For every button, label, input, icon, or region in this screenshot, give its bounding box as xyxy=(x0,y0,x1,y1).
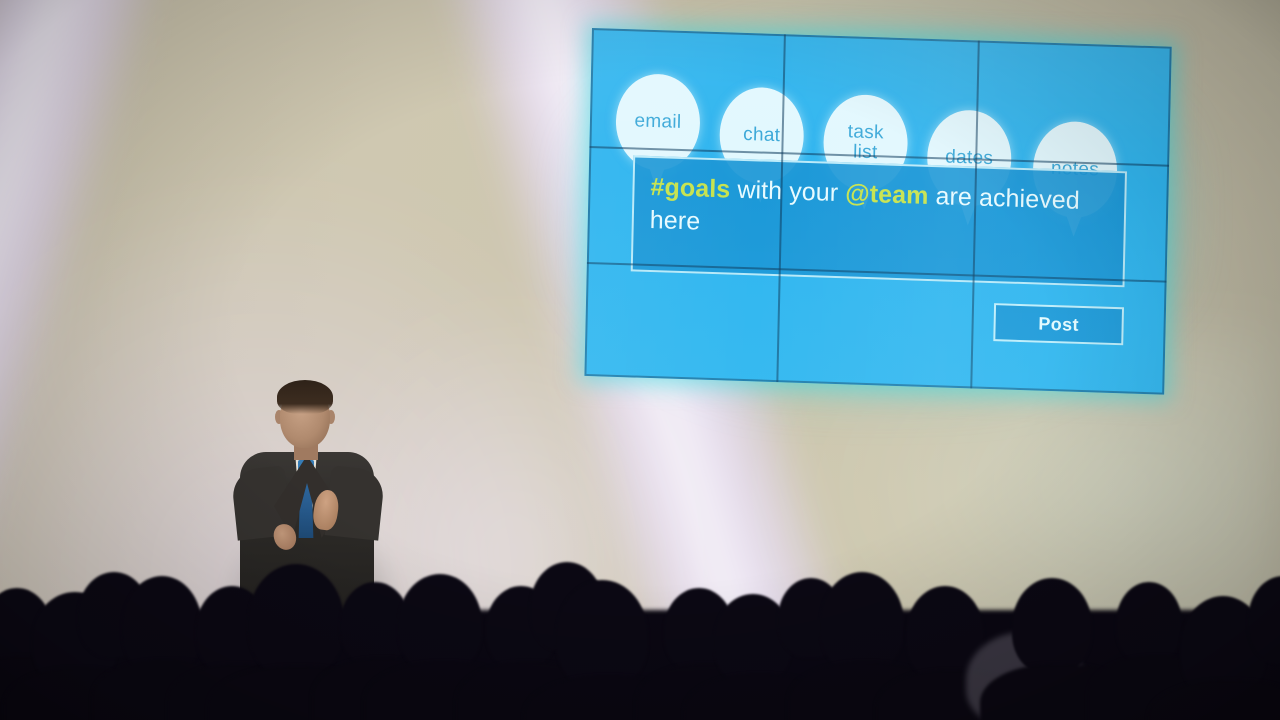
audience-head xyxy=(1012,578,1092,674)
bubble-email-label: email xyxy=(632,111,683,133)
audience-head xyxy=(820,572,904,674)
composer-text: #goals with your @team are achieved here xyxy=(649,171,1114,252)
composer-textbox[interactable]: #goals with your @team are achieved here xyxy=(631,155,1127,287)
bubble-task-list-label: task list xyxy=(845,122,886,163)
audience-head xyxy=(556,580,648,690)
audience-silhouettes xyxy=(0,530,1280,720)
bubble-chat-label: chat xyxy=(741,125,783,146)
post-button[interactable]: Post xyxy=(993,303,1124,345)
stage-scene: email chat task list dates notes #goal xyxy=(0,0,1280,720)
audience-head xyxy=(248,564,344,678)
videowall-display[interactable]: email chat task list dates notes #goal xyxy=(584,28,1171,395)
post-button-label: Post xyxy=(1038,313,1079,335)
hashtag-goals: #goals xyxy=(650,173,730,204)
mention-team: @team xyxy=(845,179,929,210)
speaker-hair xyxy=(277,380,333,414)
audience-head xyxy=(1116,582,1182,664)
presentation-slide: email chat task list dates notes #goal xyxy=(584,28,1171,395)
audience-head xyxy=(398,574,482,674)
composer-text-mid-1: with your xyxy=(730,176,846,208)
